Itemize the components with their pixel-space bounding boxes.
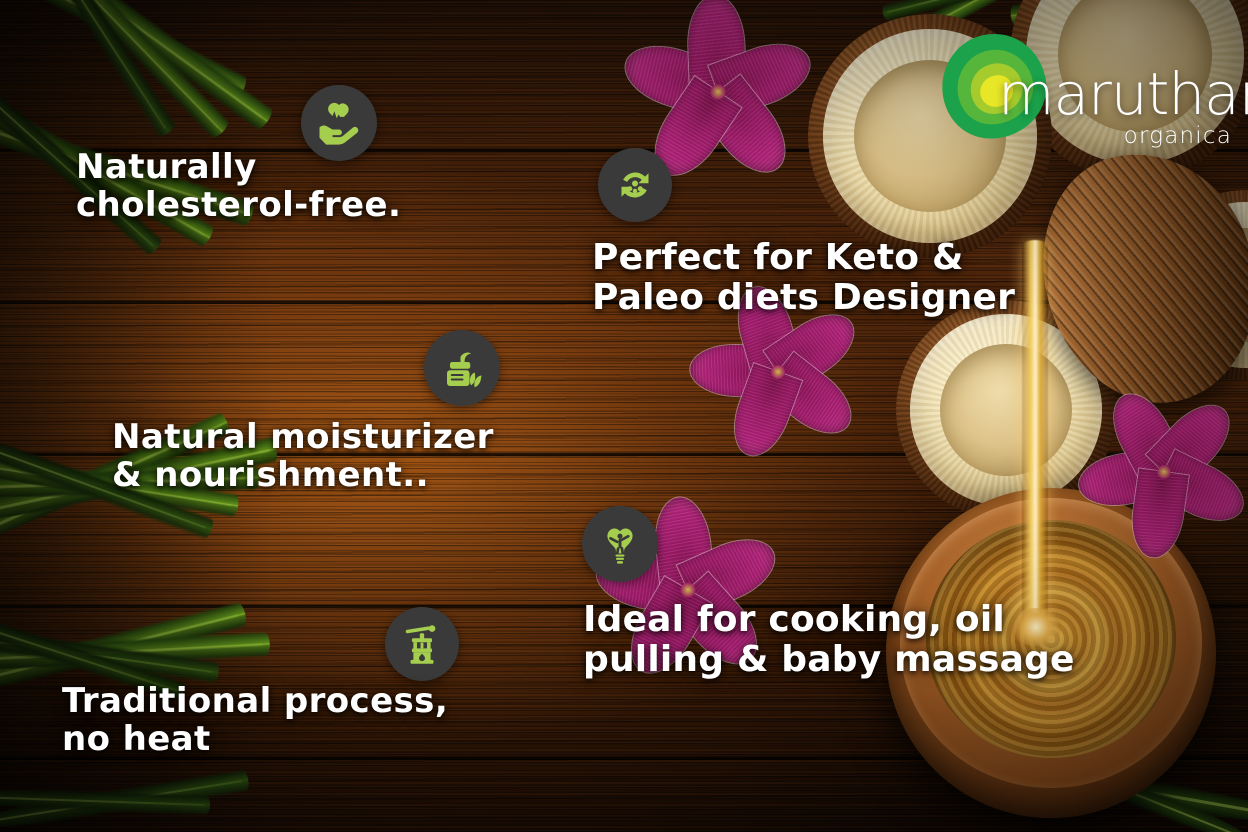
brand-tagline: organica <box>1124 123 1232 149</box>
badge-moisturizer[interactable] <box>424 330 500 406</box>
brand-logo[interactable]: marutham organica <box>938 26 1234 148</box>
poster-canvas: Naturally cholesterol-free. Perfect for … <box>0 0 1248 832</box>
feature-text-moisturizer: Natural moisturizer & nourishment.. <box>112 418 582 494</box>
badge-keto-paleo[interactable] <box>598 148 672 222</box>
feature-text-keto-paleo: Perfect for Keto & Paleo diets Designer <box>592 238 1072 319</box>
cream-jar-with-leaves-icon <box>438 344 486 392</box>
metabolism-recycle-arrows-icon <box>611 161 659 209</box>
badge-traditional-process[interactable] <box>385 607 459 681</box>
heart-lightbulb-wellness-icon <box>596 520 644 568</box>
hand-holding-heartbeat-icon <box>315 99 363 147</box>
badge-cooking-oil-pulling[interactable] <box>582 506 658 582</box>
brand-wordmark: marutham <box>998 60 1248 128</box>
feature-text-cholesterol-free: Naturally cholesterol-free. <box>76 148 516 224</box>
feature-text-cooking-oil-pulling: Ideal for cooking, oil pulling & baby ma… <box>583 600 1093 681</box>
feature-text-traditional-process: Traditional process, no heat <box>62 682 502 758</box>
traditional-oil-press-icon <box>399 621 445 667</box>
